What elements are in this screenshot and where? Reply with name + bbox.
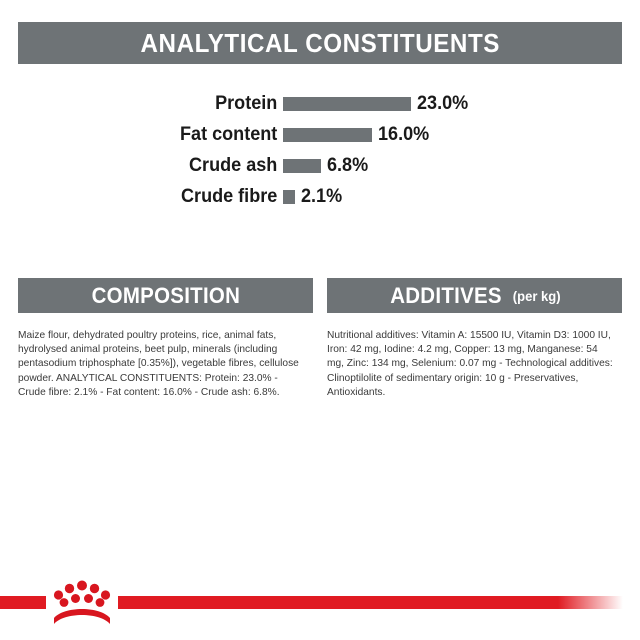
chart-bar bbox=[283, 128, 372, 142]
additives-header-unit: (per kg) bbox=[513, 288, 561, 304]
additives-panel: ADDITIVES (per kg) Nutritional additives… bbox=[327, 278, 622, 399]
additives-body-text: Nutritional additives: Vitamin A: 15500 … bbox=[327, 328, 613, 399]
analytical-constituents-chart: Protein 23.0% Fat content 16.0% Crude as… bbox=[0, 88, 640, 212]
composition-header-label: COMPOSITION bbox=[91, 283, 240, 309]
info-panels: COMPOSITION Maize flour, dehydrated poul… bbox=[18, 278, 622, 399]
chart-row: Protein 23.0% bbox=[0, 88, 640, 119]
chart-bar bbox=[283, 159, 321, 173]
chart-bar bbox=[283, 190, 295, 204]
brand-rule-right bbox=[118, 596, 623, 609]
brand-footer bbox=[0, 570, 640, 640]
additives-header-label: ADDITIVES bbox=[390, 283, 502, 309]
chart-bar bbox=[283, 97, 411, 111]
chart-bar-group: 2.1% bbox=[283, 186, 344, 208]
chart-bar-group: 23.0% bbox=[283, 93, 471, 115]
chart-value-label: 6.8% bbox=[327, 155, 368, 177]
chart-value-label: 23.0% bbox=[417, 93, 468, 115]
chart-value-label: 16.0% bbox=[378, 124, 429, 146]
additives-header: ADDITIVES (per kg) bbox=[327, 278, 622, 313]
chart-row: Crude ash 6.8% bbox=[0, 150, 640, 181]
analytical-constituents-header: ANALYTICAL CONSTITUENTS bbox=[18, 22, 622, 64]
royal-canin-crown-icon bbox=[46, 578, 118, 626]
composition-panel: COMPOSITION Maize flour, dehydrated poul… bbox=[18, 278, 313, 399]
chart-category-label: Fat content bbox=[14, 124, 283, 146]
chart-category-label: Crude ash bbox=[14, 155, 283, 177]
chart-bar-group: 16.0% bbox=[283, 124, 432, 146]
chart-row: Crude fibre 2.1% bbox=[0, 181, 640, 212]
chart-value-label: 2.1% bbox=[301, 186, 342, 208]
chart-bar-group: 6.8% bbox=[283, 155, 370, 177]
chart-category-label: Protein bbox=[14, 93, 283, 115]
page-title: ANALYTICAL CONSTITUENTS bbox=[140, 28, 499, 59]
chart-category-label: Crude fibre bbox=[14, 186, 283, 208]
composition-header: COMPOSITION bbox=[18, 278, 313, 313]
composition-body-text: Maize flour, dehydrated poultry proteins… bbox=[18, 328, 304, 399]
chart-row: Fat content 16.0% bbox=[0, 119, 640, 150]
brand-rule-left bbox=[0, 596, 46, 609]
